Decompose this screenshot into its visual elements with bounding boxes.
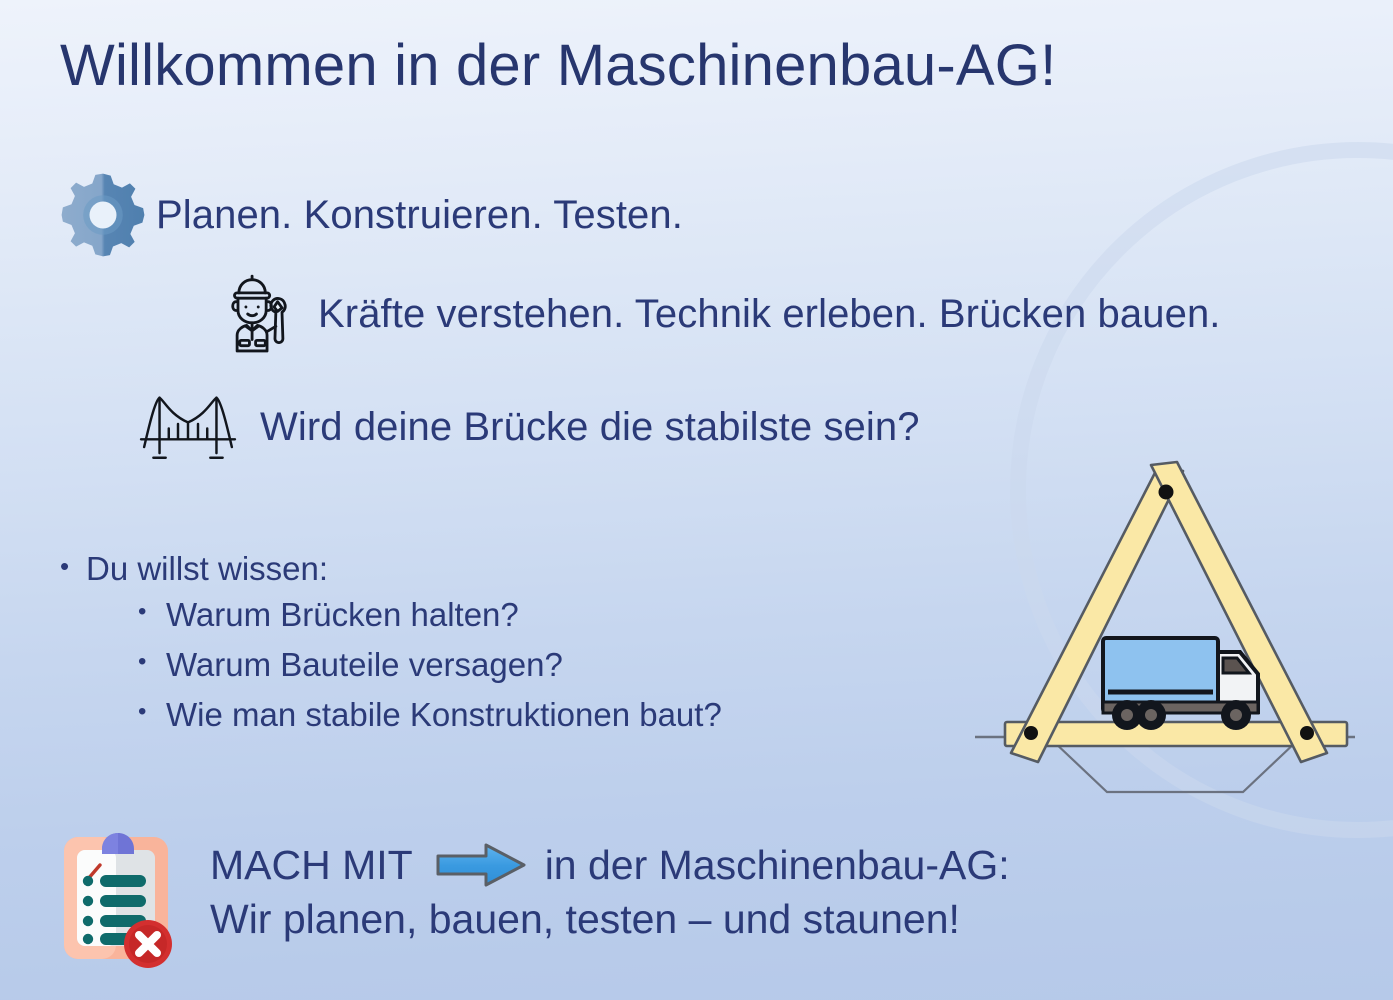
list-item: • Wie man stabile Konstruktionen baut? — [138, 696, 722, 734]
clipboard-checklist-icon — [60, 823, 178, 973]
cta-line-2: Wir planen, bauen, testen – und staunen! — [210, 892, 1010, 946]
cta-block: MACH MIT in der Maschinenbau-AG: Wir pla… — [210, 838, 1010, 946]
bullet-sublist: • Warum Brücken halten? • Warum Bauteile… — [138, 596, 722, 734]
red-x-badge-icon — [124, 920, 172, 968]
pivot-left-base — [1024, 726, 1038, 740]
worker-icon — [216, 270, 304, 358]
cta-line-2-label: Wir planen, bauen, testen – und staunen! — [210, 892, 960, 946]
truck — [1103, 638, 1258, 730]
tagline-row-planen: Planen. Konstruieren. Testen. — [58, 170, 683, 260]
list-item: • Warum Bauteile versagen? — [138, 646, 722, 684]
bullet-marker: • — [138, 646, 166, 677]
list-item-label: Wie man stabile Konstruktionen baut? — [166, 696, 722, 734]
tagline-text-planen: Planen. Konstruieren. Testen. — [156, 193, 683, 238]
list-item: • Warum Brücken halten? — [138, 596, 722, 634]
bullet-marker: • — [138, 696, 166, 727]
tagline-row-kraefte: Kräfte verstehen. Technik erleben. Brück… — [216, 270, 1221, 358]
bullet-list: • Du willst wissen: • Warum Brücken halt… — [60, 550, 722, 746]
cta-mach-mit-label: MACH MIT — [210, 838, 413, 892]
cta-line-1: MACH MIT in der Maschinenbau-AG: — [210, 838, 1010, 892]
right-arrow-icon — [435, 842, 527, 888]
bridge-icon — [138, 390, 238, 464]
page-title: Willkommen in der Maschinenbau-AG! — [60, 32, 1056, 99]
pivot-apex — [1159, 485, 1174, 500]
list-item-label: Du willst wissen: — [86, 550, 328, 588]
list-item-label: Warum Bauteile versagen? — [166, 646, 563, 684]
tagline-text-bruecke: Wird deine Brücke die stabilste sein? — [260, 405, 920, 450]
triangular-truss-bridge-illustration — [955, 440, 1375, 825]
cta-suffix-label: in der Maschinenbau-AG: — [545, 838, 1010, 892]
valley-outline — [1052, 740, 1298, 792]
tagline-text-kraefte: Kräfte verstehen. Technik erleben. Brück… — [318, 292, 1221, 337]
tagline-row-bruecke: Wird deine Brücke die stabilste sein? — [138, 390, 920, 464]
list-item-lead: • Du willst wissen: — [60, 550, 722, 588]
list-item-label: Warum Brücken halten? — [166, 596, 519, 634]
pivot-right-base — [1300, 726, 1314, 740]
bullet-marker: • — [60, 550, 86, 583]
gear-icon — [58, 170, 148, 260]
slide-canvas: Willkommen in der Maschinenbau-AG! Plane… — [0, 0, 1393, 1000]
bullet-marker: • — [138, 596, 166, 627]
